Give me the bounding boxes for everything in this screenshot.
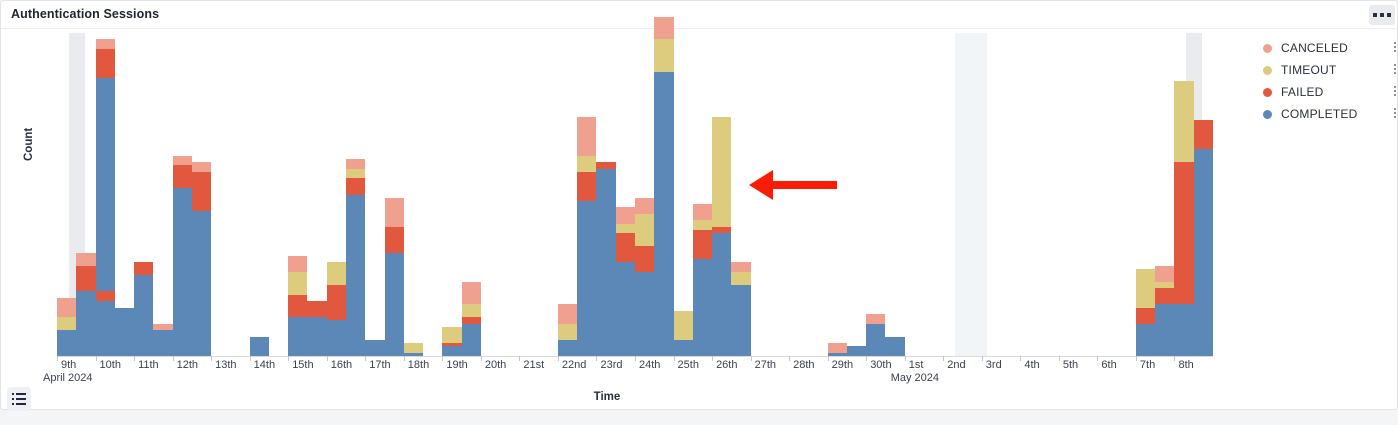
bar-30th-0[interactable] xyxy=(866,314,885,356)
x-tick xyxy=(558,356,559,361)
bar-segment-timeout xyxy=(442,327,461,343)
bar-segment-completed xyxy=(635,272,654,356)
bar-segment-timeout xyxy=(635,214,654,246)
bar-segment-failed xyxy=(96,49,115,78)
bar-segment-canceled xyxy=(731,262,750,272)
x-tick-label: 10th xyxy=(100,359,121,371)
x-tick xyxy=(751,356,752,361)
x-tick xyxy=(635,356,636,361)
x-tick xyxy=(1020,356,1021,361)
x-tick xyxy=(519,356,520,361)
bar-segment-timeout xyxy=(1174,81,1193,162)
legend[interactable]: CANCELEDTIMEOUTFAILEDCOMPLETED xyxy=(1263,37,1393,125)
legend-label: FAILED xyxy=(1281,85,1324,99)
x-tick-label: 12th xyxy=(177,359,198,371)
bar-segment-timeout xyxy=(731,272,750,285)
bar-10th-1[interactable] xyxy=(115,308,134,356)
bar-segment-completed xyxy=(307,317,326,356)
bar-7th-1[interactable] xyxy=(1155,266,1174,356)
bar-segment-failed xyxy=(1194,120,1213,149)
bar-segment-completed xyxy=(288,317,307,356)
bar-8th-0[interactable] xyxy=(1174,81,1193,356)
bar-segment-canceled xyxy=(57,298,76,317)
plot-area[interactable] xyxy=(57,33,1213,356)
chart-card: Authentication Sessions Count 9th10th11t… xyxy=(0,0,1398,410)
three-dots-icon[interactable] xyxy=(1369,5,1395,25)
legend-item-failed[interactable]: FAILED xyxy=(1263,81,1393,103)
bar-segment-canceled xyxy=(288,256,307,272)
bar-segment-canceled xyxy=(96,39,115,49)
bar-segment-completed xyxy=(192,211,211,356)
bar-segment-canceled xyxy=(385,198,404,227)
dot xyxy=(1380,13,1384,17)
x-tick-label: 29th xyxy=(832,359,853,371)
bar-18th-0[interactable] xyxy=(404,343,423,356)
bar-segment-canceled xyxy=(635,198,654,214)
legend-label: TIMEOUT xyxy=(1281,63,1336,77)
legend-swatch-icon xyxy=(1263,44,1272,53)
bar-29th-1[interactable] xyxy=(847,346,866,356)
x-tick-label: 2nd xyxy=(947,359,965,371)
legend-item-completed[interactable]: COMPLETED xyxy=(1263,103,1393,125)
bar-segment-completed xyxy=(346,195,365,356)
x-tick xyxy=(1097,356,1098,361)
bar-segment-timeout xyxy=(558,324,577,340)
bar-segment-completed xyxy=(693,259,712,356)
bar-segment-canceled xyxy=(346,159,365,169)
bar-17th-1[interactable] xyxy=(385,198,404,356)
bar-segment-failed xyxy=(616,233,635,262)
x-tick-label: 5th xyxy=(1063,359,1078,371)
bar-11th-1[interactable] xyxy=(153,324,172,356)
x-tick xyxy=(404,356,405,361)
bar-segment-failed xyxy=(288,295,307,318)
bar-segment-completed xyxy=(327,320,346,356)
bar-segment-completed xyxy=(173,188,192,356)
bar-segment-completed xyxy=(558,340,577,356)
x-tick-label: 7th xyxy=(1140,359,1155,371)
bar-14th-0[interactable] xyxy=(250,337,269,356)
bar-segment-timeout xyxy=(462,304,481,317)
bar-segment-completed xyxy=(1174,304,1193,356)
bar-15th-0[interactable] xyxy=(288,256,307,356)
bar-24th-1[interactable] xyxy=(654,17,673,356)
bar-segment-failed xyxy=(76,266,95,292)
bar-segment-completed xyxy=(57,330,76,356)
x-tick-label: 13th xyxy=(215,359,236,371)
bar-29th-0[interactable] xyxy=(828,343,847,356)
x-tick xyxy=(481,356,482,361)
bar-segment-completed xyxy=(1155,304,1174,356)
y-axis-title: Count xyxy=(23,128,35,161)
card-header: Authentication Sessions xyxy=(1,1,1398,29)
legend-item-canceled[interactable]: CANCELED xyxy=(1263,37,1393,59)
bar-9th-1[interactable] xyxy=(76,253,95,356)
bar-segment-failed xyxy=(1136,308,1155,324)
x-tick-label: 16th xyxy=(331,359,352,371)
x-tick-label: 22nd xyxy=(562,359,586,371)
x-tick-label: 23rd xyxy=(600,359,622,371)
bar-26th-0[interactable] xyxy=(712,117,731,356)
bar-22nd-0[interactable] xyxy=(558,304,577,356)
x-tick-label: 24th xyxy=(639,359,660,371)
bar-9th-0[interactable] xyxy=(57,298,76,356)
bar-12th-0[interactable] xyxy=(173,156,192,356)
bar-segment-failed xyxy=(173,165,192,188)
bar-segment-timeout xyxy=(654,39,673,71)
bar-segment-canceled xyxy=(1155,266,1174,282)
bar-segment-completed xyxy=(115,308,134,356)
bar-8th-1[interactable] xyxy=(1194,120,1213,356)
bar-segment-completed xyxy=(847,346,866,356)
x-tick xyxy=(288,356,289,361)
x-tick xyxy=(789,356,790,361)
x-tick-label: 26th xyxy=(716,359,737,371)
x-tick xyxy=(866,356,867,361)
x-tick-label: 18th xyxy=(408,359,429,371)
bar-12th-1[interactable] xyxy=(192,162,211,356)
dot xyxy=(1373,13,1377,17)
bar-segment-canceled xyxy=(616,207,635,223)
bar-7th-0[interactable] xyxy=(1136,269,1155,356)
bar-segment-timeout xyxy=(57,317,76,330)
bar-segment-completed xyxy=(76,291,95,356)
x-tick xyxy=(905,356,906,361)
bar-segment-completed xyxy=(153,330,172,356)
x-tick-label: 21st xyxy=(523,359,544,371)
bar-segment-failed xyxy=(385,227,404,253)
bar-segment-completed xyxy=(134,275,153,356)
bar-19th-0[interactable] xyxy=(442,327,461,356)
x-tick xyxy=(327,356,328,361)
x-tick xyxy=(943,356,944,361)
bar-segment-completed xyxy=(462,324,481,356)
drag-handle-icon[interactable] xyxy=(1394,86,1398,98)
bar-segment-completed xyxy=(442,346,461,356)
x-tick xyxy=(96,356,97,361)
x-tick-label: 25th xyxy=(678,359,699,371)
bar-22nd-1[interactable] xyxy=(577,117,596,356)
legend-swatch-icon xyxy=(1263,88,1272,97)
bar-11th-0[interactable] xyxy=(134,262,153,356)
bar-segment-completed xyxy=(365,340,384,356)
x-tick-label: 4th xyxy=(1024,359,1039,371)
bar-segment-failed xyxy=(1174,162,1193,304)
bar-segment-canceled xyxy=(173,156,192,166)
bar-segment-completed xyxy=(96,301,115,356)
x-tick xyxy=(365,356,366,361)
bar-segment-completed xyxy=(885,337,904,356)
x-tick xyxy=(57,356,58,361)
x-tick-label: 3rd xyxy=(986,359,1002,371)
x-tick-label: 8th xyxy=(1178,359,1193,371)
x-tick xyxy=(828,356,829,361)
bar-segment-canceled xyxy=(577,117,596,156)
bar-segment-completed xyxy=(385,253,404,356)
bar-segment-failed xyxy=(192,172,211,211)
bar-segment-failed xyxy=(693,230,712,259)
bar-24th-0[interactable] xyxy=(635,198,654,356)
x-tick xyxy=(982,356,983,361)
x-axis-title: Time xyxy=(1,391,1213,403)
bar-segment-completed xyxy=(866,324,885,356)
arrow-shaft xyxy=(773,181,837,189)
bar-segment-timeout xyxy=(577,156,596,172)
arrow-head xyxy=(749,170,773,200)
bar-segment-canceled xyxy=(828,343,847,353)
bar-23rd-1[interactable] xyxy=(616,207,635,356)
bar-segment-completed xyxy=(654,72,673,356)
bar-segment-canceled xyxy=(654,17,673,40)
bar-segment-timeout xyxy=(404,343,423,353)
x-month-label: May 2024 xyxy=(891,372,939,384)
x-tick-label: 27th xyxy=(755,359,776,371)
x-tick-label: 1st xyxy=(909,359,924,371)
legend-item-timeout[interactable]: TIMEOUT xyxy=(1263,59,1393,81)
bar-10th-0[interactable] xyxy=(96,291,115,356)
x-tick xyxy=(1059,356,1060,361)
bar-segment-timeout xyxy=(693,220,712,230)
x-tick xyxy=(250,356,251,361)
bar-segment-failed xyxy=(307,301,326,317)
bar-segment-failed xyxy=(327,285,346,321)
x-tick-label: 19th xyxy=(446,359,467,371)
bar-segment-completed xyxy=(596,169,615,356)
bar-segment-canceled xyxy=(866,314,885,324)
bar-segment-timeout xyxy=(327,262,346,285)
x-tick-label: 17th xyxy=(369,359,390,371)
x-tick-label: 15th xyxy=(292,359,313,371)
bar-25th-1[interactable] xyxy=(693,204,712,356)
bar-segment-completed xyxy=(712,233,731,356)
bar-segment-timeout xyxy=(712,117,731,227)
drag-handle-icon[interactable] xyxy=(1394,64,1398,76)
bar-segment-failed xyxy=(577,172,596,201)
bar-segment-timeout xyxy=(1136,269,1155,308)
bar-15th-1[interactable] xyxy=(307,301,326,356)
bar-segment-canceled xyxy=(192,162,211,172)
legend-swatch-icon xyxy=(1263,66,1272,75)
bar-17th-0[interactable] xyxy=(365,340,384,356)
bar-segment-canceled xyxy=(76,253,95,266)
x-tick xyxy=(173,356,174,361)
bar-segment-failed xyxy=(635,246,654,272)
bar-segment-failed xyxy=(1155,288,1174,304)
x-tick xyxy=(442,356,443,361)
bar-23rd-0[interactable] xyxy=(596,162,615,356)
bar-segment-completed xyxy=(577,201,596,356)
bar-16th-0[interactable] xyxy=(327,262,346,356)
bar-segment-failed xyxy=(134,262,153,275)
x-tick xyxy=(211,356,212,361)
x-tick xyxy=(134,356,135,361)
bar-segment-timeout xyxy=(288,272,307,295)
x-tick-label: 6th xyxy=(1101,359,1116,371)
highlight-band xyxy=(955,33,987,356)
bar-segment-canceled xyxy=(558,304,577,323)
bar-segment-completed xyxy=(1194,149,1213,356)
page-title: Authentication Sessions xyxy=(11,7,159,21)
bar-segment-canceled xyxy=(462,282,481,305)
bar-30th-1[interactable] xyxy=(885,337,904,356)
bar-segment-timeout xyxy=(616,224,635,234)
bar-25th-0[interactable] xyxy=(674,311,693,356)
list-icon-glyph xyxy=(12,393,26,405)
bar-segment-completed xyxy=(250,337,269,356)
x-tick xyxy=(1174,356,1175,361)
legend-swatch-icon xyxy=(1263,110,1272,119)
legend-label: CANCELED xyxy=(1281,41,1348,55)
bar-16th-1[interactable] xyxy=(346,159,365,356)
x-tick xyxy=(596,356,597,361)
x-tick-label: 28th xyxy=(793,359,814,371)
bar-segment-failed xyxy=(96,291,115,301)
x-tick xyxy=(674,356,675,361)
bar-segment-completed xyxy=(674,340,693,356)
x-month-label: April 2024 xyxy=(43,372,93,384)
x-tick xyxy=(712,356,713,361)
list-icon[interactable] xyxy=(7,387,31,411)
bar-segment-failed xyxy=(346,178,365,194)
bar-segment-completed xyxy=(616,262,635,356)
drag-handle-icon[interactable] xyxy=(1394,42,1398,54)
bar-26th-1[interactable] xyxy=(731,262,750,356)
bar-segment-timeout xyxy=(674,311,693,340)
legend-label: COMPLETED xyxy=(1281,107,1357,121)
drag-handle-icon[interactable] xyxy=(1394,108,1398,120)
x-tick-label: 20th xyxy=(485,359,506,371)
x-tick xyxy=(1136,356,1137,361)
bar-19th-1[interactable] xyxy=(462,282,481,356)
x-tick-label: 30th xyxy=(870,359,891,371)
x-tick-label: 11th xyxy=(138,359,159,371)
bar-segment-completed xyxy=(731,285,750,356)
x-tick-label: 14th xyxy=(254,359,275,371)
bar-segment-canceled xyxy=(693,204,712,220)
dot xyxy=(1387,13,1391,17)
bar-segment-completed xyxy=(1136,324,1155,356)
bar-segment-timeout xyxy=(346,169,365,179)
x-tick-label: 9th xyxy=(61,359,76,371)
